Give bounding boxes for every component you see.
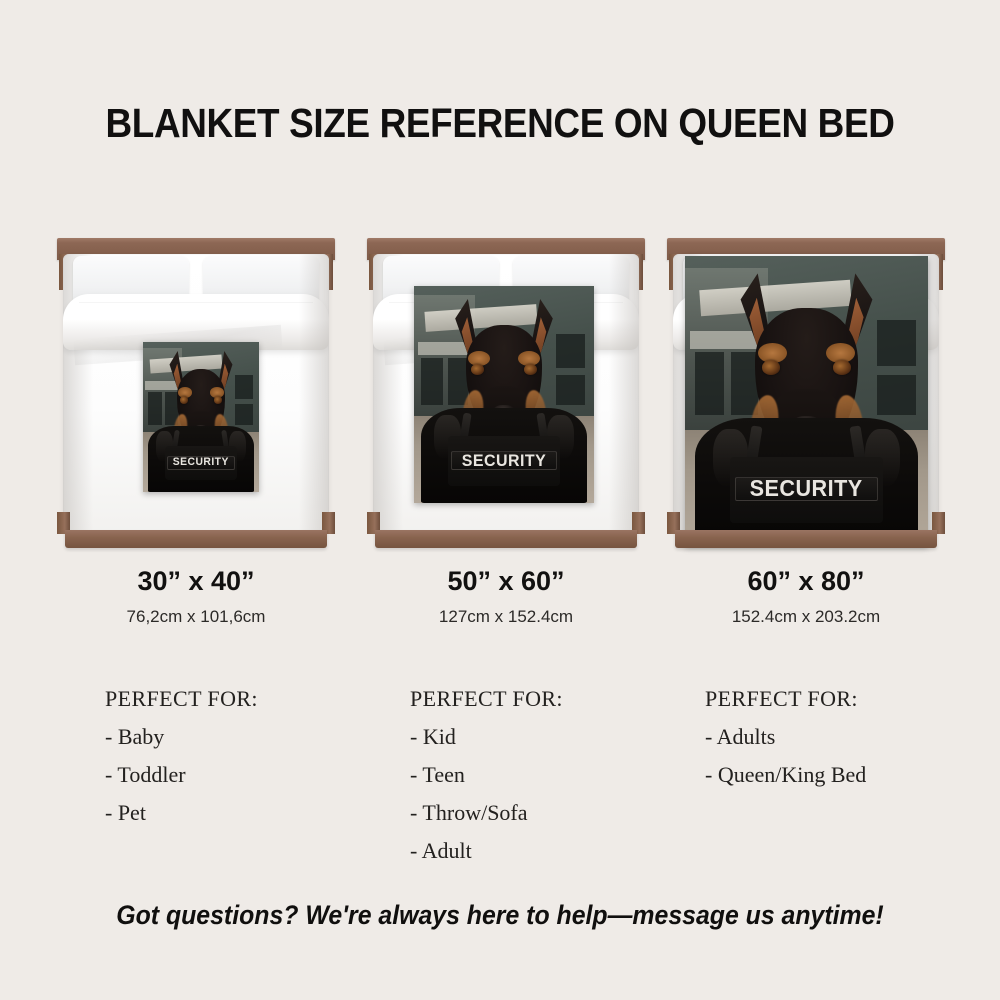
doberman-figure: SECURITY bbox=[685, 256, 928, 546]
queen-bed: SECURITY bbox=[667, 238, 945, 548]
tactical-vest: SECURITY bbox=[421, 408, 587, 503]
footboard bbox=[675, 530, 937, 548]
tactical-vest: SECURITY bbox=[695, 418, 919, 546]
footer-tagline: Got questions? We're always here to help… bbox=[40, 900, 960, 931]
size-centimeters: 76,2cm x 101,6cm bbox=[57, 607, 335, 627]
bed-mockup-large: SECURITY bbox=[667, 238, 945, 548]
perfect-for-small: PERFECT FOR: - Baby - Toddler - Pet bbox=[105, 686, 383, 826]
perfect-for-heading: PERFECT FOR: bbox=[105, 686, 383, 712]
size-centimeters: 127cm x 152.4cm bbox=[367, 607, 645, 627]
blanket-print: SECURITY bbox=[414, 286, 594, 503]
footboard bbox=[65, 530, 327, 548]
dog-eye-right bbox=[214, 396, 223, 404]
perfect-for-heading: PERFECT FOR: bbox=[410, 686, 688, 712]
footboard bbox=[375, 530, 637, 548]
perfect-for-large: PERFECT FOR: - Adults - Queen/King Bed bbox=[705, 686, 983, 788]
size-label-medium: 50” x 60” 127cm x 152.4cm bbox=[367, 566, 645, 627]
security-patch: SECURITY bbox=[735, 477, 878, 501]
queen-bed: SECURITY bbox=[57, 238, 335, 548]
dog-eye-left bbox=[762, 360, 780, 375]
doberman-figure: SECURITY bbox=[414, 286, 594, 503]
dog-eye-right bbox=[524, 364, 538, 375]
print-scene: SECURITY bbox=[685, 256, 928, 546]
size-label-large: 60” x 80” 152.4cm x 203.2cm bbox=[667, 566, 945, 627]
list-item: - Kid bbox=[410, 724, 688, 750]
perfect-for-heading: PERFECT FOR: bbox=[705, 686, 983, 712]
size-reference-infographic: BLANKET SIZE REFERENCE ON QUEEN BED bbox=[0, 0, 1000, 1000]
queen-bed: SECURITY bbox=[367, 238, 645, 548]
security-patch: SECURITY bbox=[167, 456, 235, 469]
list-item: - Toddler bbox=[105, 762, 383, 788]
list-item: - Pet bbox=[105, 800, 383, 826]
security-patch: SECURITY bbox=[451, 451, 557, 469]
list-item: - Queen/King Bed bbox=[705, 762, 983, 788]
list-item: - Teen bbox=[410, 762, 688, 788]
size-centimeters: 152.4cm x 203.2cm bbox=[667, 607, 945, 627]
security-patch-label: SECURITY bbox=[462, 452, 547, 469]
security-patch-label: SECURITY bbox=[750, 477, 863, 500]
security-patch-label: SECURITY bbox=[173, 457, 229, 468]
list-item: - Adult bbox=[410, 838, 688, 864]
size-inches: 50” x 60” bbox=[367, 566, 645, 597]
dog-eye-left bbox=[180, 396, 189, 404]
doberman-figure: SECURITY bbox=[143, 342, 259, 492]
blanket-print: SECURITY bbox=[685, 256, 928, 546]
size-label-small: 30” x 40” 76,2cm x 101,6cm bbox=[57, 566, 335, 627]
tactical-vest: SECURITY bbox=[148, 426, 255, 492]
size-inches: 60” x 80” bbox=[667, 566, 945, 597]
list-item: - Throw/Sofa bbox=[410, 800, 688, 826]
list-item: - Baby bbox=[105, 724, 383, 750]
blanket-print: SECURITY bbox=[143, 342, 259, 492]
print-scene: SECURITY bbox=[414, 286, 594, 503]
bed-mockup-medium: SECURITY bbox=[367, 238, 645, 548]
print-scene: SECURITY bbox=[143, 342, 259, 492]
size-inches: 30” x 40” bbox=[57, 566, 335, 597]
perfect-for-medium: PERFECT FOR: - Kid - Teen - Throw/Sofa -… bbox=[410, 686, 688, 864]
bed-mockup-small: SECURITY bbox=[57, 238, 335, 548]
list-item: - Adults bbox=[705, 724, 983, 750]
dog-eye-left bbox=[471, 364, 485, 375]
